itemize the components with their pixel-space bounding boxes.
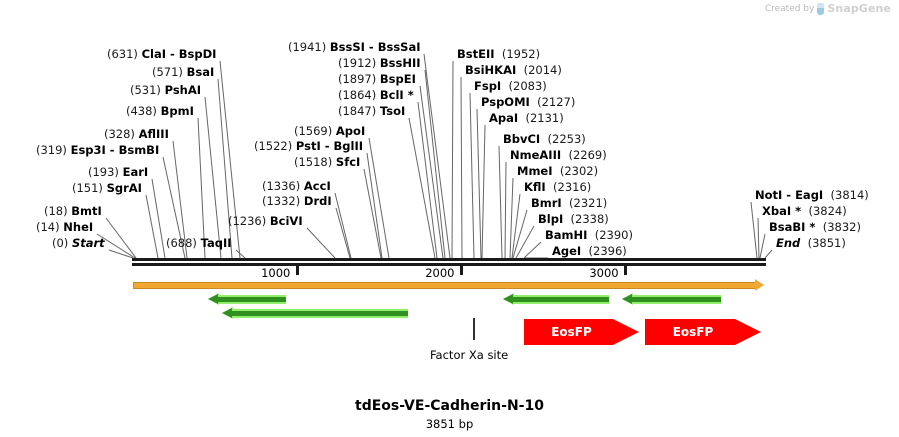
enzyme-name: End: [776, 236, 800, 250]
enzyme-position: (531): [130, 83, 161, 97]
enzyme-position: (1522): [254, 139, 292, 153]
eosfp-arrow-label: EosFP: [645, 319, 741, 345]
enzyme-position: (1897): [338, 72, 376, 86]
enzyme-leader-line: [106, 218, 136, 258]
enzyme-leader-line: [461, 77, 462, 258]
enzyme-name: BsaBI *: [769, 220, 815, 234]
enzyme-label: (1518) SfcI: [294, 156, 360, 168]
enzyme-label: BsiHKAI (2014): [465, 64, 562, 76]
eosfp-feature-arrow[interactable]: EosFP: [524, 319, 639, 345]
factor-xa-marker: [473, 318, 475, 340]
enzyme-position: (1332): [262, 194, 300, 208]
enzyme-leader-line: [205, 97, 221, 258]
enzyme-name: FspI: [474, 79, 501, 93]
enzyme-label: (688) TaqII: [166, 237, 232, 249]
leader-lines: [0, 0, 899, 437]
enzyme-position: (2396): [589, 244, 627, 258]
green-arrow-body: [512, 297, 609, 302]
enzyme-name: BbvCI: [503, 132, 540, 146]
enzyme-name: NotI - EagI: [755, 188, 823, 202]
enzyme-leader-line: [336, 208, 350, 258]
enzyme-name: AflIII: [139, 127, 169, 141]
enzyme-leader-line: [109, 250, 133, 258]
enzyme-label: (14) NheI: [36, 221, 93, 233]
enzyme-leader-line: [425, 70, 445, 258]
enzyme-label: KflI (2316): [524, 181, 591, 193]
enzyme-label: (193) EarI: [88, 166, 148, 178]
snapgene-logo-icon: [817, 3, 824, 15]
enzyme-position: (1912): [338, 56, 376, 70]
full-length-orange-arrow: [133, 282, 756, 289]
enzyme-position: (2127): [537, 95, 575, 109]
green-arrow-body: [231, 311, 408, 316]
enzyme-leader-line: [765, 250, 772, 258]
enzyme-label: (151) SgrAI: [72, 182, 142, 194]
enzyme-position: (2131): [525, 111, 563, 125]
enzyme-leader-line: [499, 146, 502, 258]
enzyme-label: (0) Start: [52, 237, 105, 249]
enzyme-name: PshAI: [165, 83, 201, 97]
enzyme-name: NheI: [63, 220, 93, 234]
enzyme-leader-line: [367, 153, 382, 258]
green-reverse-arrow-3: [503, 294, 609, 305]
enzyme-position: (2253): [548, 132, 586, 146]
enzyme-name: SfcI: [336, 155, 360, 169]
watermark-brand: SnapGene: [827, 2, 891, 15]
enzyme-label: BlpI (2338): [538, 213, 609, 225]
enzyme-name: ApoI: [336, 124, 365, 138]
enzyme-name: XbaI *: [762, 204, 801, 218]
enzyme-label: FspI (2083): [474, 80, 547, 92]
full-length-orange-arrow-head: [755, 279, 764, 291]
enzyme-label: (531) PshAI: [130, 84, 201, 96]
enzyme-label: (1336) AccI: [262, 180, 331, 192]
enzyme-position: (319): [36, 143, 67, 157]
enzyme-name: TaqII: [201, 236, 232, 250]
enzyme-label: AgeI (2396): [552, 245, 627, 257]
enzyme-name: BpmI: [161, 104, 194, 118]
enzyme-position: (2338): [571, 212, 609, 226]
enzyme-position: (1847): [338, 104, 376, 118]
factor-xa-label: Factor Xa site: [430, 348, 508, 362]
enzyme-position: (2321): [569, 196, 607, 210]
enzyme-label: (1569) ApoI: [294, 125, 365, 137]
ruler-tick: [624, 266, 627, 275]
enzyme-position: (571): [152, 65, 183, 79]
green-arrow-head-icon: [222, 308, 232, 318]
enzyme-position: (1518): [294, 155, 332, 169]
enzyme-label: NmeAIII (2269): [510, 149, 607, 161]
enzyme-name: AgeI: [552, 244, 581, 258]
enzyme-name: BmtI: [71, 204, 102, 218]
enzyme-position: (2302): [560, 164, 598, 178]
enzyme-label: (1941) BssSI - BssSaI: [288, 41, 420, 53]
enzyme-position: (151): [72, 181, 103, 195]
enzyme-label: (571) BsaI: [152, 66, 214, 78]
enzyme-label: (438) BpmI: [126, 105, 194, 117]
enzyme-leader-line: [364, 169, 381, 258]
enzyme-position: (1569): [294, 124, 332, 138]
enzyme-label: (1236) BciVI: [228, 215, 303, 227]
enzyme-name: EarI: [123, 165, 149, 179]
enzyme-leader-line: [218, 79, 232, 258]
enzyme-name: Esp3I - BsmBI: [71, 143, 160, 157]
enzyme-leader-line: [516, 226, 534, 258]
enzyme-name: BspEI: [380, 72, 416, 86]
enzyme-label: (319) Esp3I - BsmBI: [36, 144, 159, 156]
enzyme-leader-line: [307, 228, 335, 258]
enzyme-name: BssHII: [380, 56, 421, 70]
green-arrow-head-icon: [622, 294, 632, 304]
ruler-tick-label: 2000: [425, 266, 454, 280]
enzyme-leader-line: [418, 102, 437, 258]
enzyme-position: (1952): [502, 47, 540, 61]
enzyme-leader-line: [152, 179, 165, 258]
ruler-tick-label: 1000: [261, 266, 290, 280]
enzyme-label: MmeI (2302): [517, 165, 598, 177]
enzyme-position: (1336): [262, 179, 300, 193]
enzyme-position: (1941): [288, 40, 326, 54]
enzyme-position: (14): [36, 220, 60, 234]
enzyme-position: (328): [104, 127, 135, 141]
enzyme-leader-line: [513, 210, 527, 258]
enzyme-label: NotI - EagI (3814): [755, 189, 869, 201]
enzyme-name: BsiHKAI: [465, 63, 516, 77]
green-arrow-head-icon: [208, 294, 218, 304]
enzyme-label: (1332) DrdI: [262, 195, 332, 207]
enzyme-name: DrdI: [304, 194, 332, 208]
enzyme-position: (2269): [568, 148, 606, 162]
enzyme-name: MmeI: [517, 164, 553, 178]
ruler-tick: [460, 266, 463, 275]
enzyme-name: PspOMI: [481, 95, 530, 109]
enzyme-position: (18): [44, 204, 68, 218]
enzyme-position: (3814): [831, 188, 869, 202]
enzyme-position: (3832): [823, 220, 861, 234]
enzyme-name: BstEII: [457, 47, 495, 61]
enzyme-name: BclI *: [380, 88, 414, 102]
enzyme-leader-line: [510, 178, 513, 258]
enzyme-position: (3851): [808, 236, 846, 250]
enzyme-label: (1897) BspEI: [338, 73, 416, 85]
enzyme-leader-line: [409, 118, 435, 258]
enzyme-leader-line: [751, 202, 757, 258]
enzyme-position: (688): [166, 236, 197, 250]
eosfp-arrow-label: EosFP: [524, 319, 619, 345]
enzyme-label: (328) AflIII: [104, 128, 169, 140]
enzyme-name: BssSI - BssSaI: [330, 40, 421, 54]
enzyme-leader-line: [482, 125, 485, 258]
enzyme-name: SgrAI: [107, 181, 142, 195]
enzyme-label: BstEII (1952): [457, 48, 540, 60]
backbone-line-top: [132, 258, 766, 261]
enzyme-leader-line: [477, 109, 481, 258]
enzyme-label: (1522) PstI - BglII: [254, 140, 363, 152]
enzyme-name: ApaI: [489, 111, 518, 125]
enzyme-position: (1236): [228, 214, 266, 228]
green-arrow-body: [631, 297, 721, 302]
green-reverse-arrow-1: [208, 294, 286, 305]
green-arrow-body: [217, 297, 286, 302]
enzyme-name: NmeAIII: [510, 148, 561, 162]
green-arrow-head-icon: [503, 294, 513, 304]
eosfp-feature-arrow[interactable]: EosFP: [645, 319, 761, 345]
enzyme-position: (193): [88, 165, 119, 179]
enzyme-position: (2316): [553, 180, 591, 194]
enzyme-label: XbaI * (3824): [762, 205, 847, 217]
enzyme-leader-line: [146, 195, 158, 258]
enzyme-name: BmrI: [531, 196, 562, 210]
enzyme-label: PspOMI (2127): [481, 96, 575, 108]
enzyme-name: AccI: [304, 179, 331, 193]
enzyme-label: ApaI (2131): [489, 112, 564, 124]
enzyme-position: (631): [107, 47, 138, 61]
enzyme-name: TsoI: [380, 104, 405, 118]
plasmid-map: Created by SnapGene (631) ClaI - BspDI(5…: [0, 0, 899, 437]
enzyme-leader-line: [524, 242, 541, 258]
enzyme-leader-line: [420, 86, 443, 258]
enzyme-label: BamHI (2390): [545, 229, 633, 241]
green-reverse-arrow-2: [222, 308, 408, 319]
enzyme-leader-line: [470, 93, 474, 258]
green-reverse-arrow-4: [622, 294, 721, 305]
enzyme-label: (631) ClaI - BspDI: [107, 48, 216, 60]
enzyme-label: End (3851): [776, 237, 846, 249]
enzyme-label: BbvCI (2253): [503, 133, 586, 145]
enzyme-name: BamHI: [545, 228, 587, 242]
enzyme-leader-line: [369, 138, 389, 258]
enzyme-leader-line: [758, 218, 759, 258]
enzyme-leader-line: [424, 54, 450, 258]
enzyme-name: PstI - BglII: [296, 139, 363, 153]
enzyme-leader-line: [220, 61, 240, 258]
ruler-tick-label: 3000: [589, 266, 618, 280]
enzyme-label: BsaBI * (3832): [769, 221, 861, 233]
enzyme-leader-line: [505, 162, 506, 258]
enzyme-position: (2014): [524, 63, 562, 77]
enzyme-leader-line: [335, 193, 351, 258]
enzyme-position: (2390): [595, 228, 633, 242]
enzyme-label: BmrI (2321): [531, 197, 607, 209]
construct-title: tdEos-VE-Cadherin-N-10: [0, 398, 899, 414]
enzyme-leader-line: [236, 250, 245, 258]
enzyme-label: (1912) BssHII: [338, 57, 421, 69]
watermark-prefix: Created by: [765, 4, 815, 14]
enzyme-name: KflI: [524, 180, 546, 194]
enzyme-position: (1864): [338, 88, 376, 102]
enzyme-name: BsaI: [187, 65, 215, 79]
enzyme-leader-line: [512, 194, 520, 258]
enzyme-label: (1847) TsoI: [338, 105, 405, 117]
enzyme-leader-line: [760, 234, 765, 258]
enzyme-leader-line: [452, 61, 453, 258]
enzyme-name: BlpI: [538, 212, 563, 226]
enzyme-position: (3824): [808, 204, 846, 218]
enzyme-position: (0): [52, 236, 68, 250]
enzyme-label: (1864) BclI *: [338, 89, 414, 101]
ruler-tick: [296, 266, 299, 275]
construct-length: 3851 bp: [0, 417, 899, 431]
enzyme-name: Start: [72, 236, 105, 250]
enzyme-position: (438): [126, 104, 157, 118]
enzyme-name: BciVI: [270, 214, 303, 228]
enzyme-position: (2083): [509, 79, 547, 93]
enzyme-label: (18) BmtI: [44, 205, 102, 217]
enzyme-name: ClaI - BspDI: [142, 47, 217, 61]
snapgene-watermark: Created by SnapGene: [765, 2, 891, 15]
